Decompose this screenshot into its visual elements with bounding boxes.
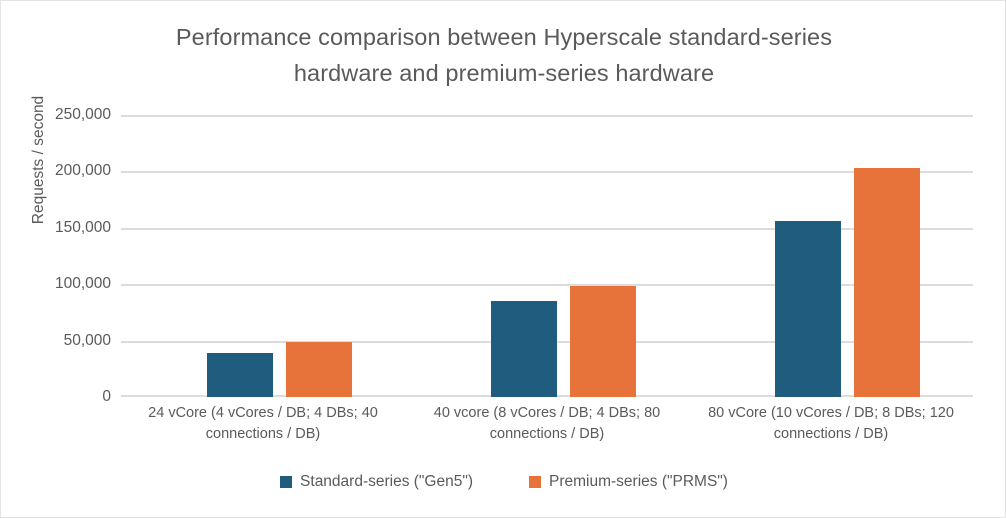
bar-standard-category-2[interactable] [491,301,557,397]
bar-standard-category-3[interactable] [775,221,841,397]
y-tick-label-1: 50,000 [15,332,111,350]
chart-title-line-2: hardware and premium-series hardware [121,55,887,91]
bar-group-category-2 [405,115,689,397]
legend-swatch-premium-series [529,476,541,488]
y-tick-label-4: 200,000 [15,162,111,180]
y-tick-label-3: 150,000 [15,219,111,237]
chart-legend: Standard-series ("Gen5") Premium-series … [1,473,1006,491]
chart-title: Performance comparison between Hyperscal… [121,19,887,91]
x-category-label-3: 80 vCore (10 vCores / DB; 8 DBs; 120 con… [689,403,973,445]
bar-premium-category-1[interactable] [286,342,352,397]
x-category-label-2-line-2: connections / DB) [405,424,689,445]
x-category-label-2: 40 vcore (8 vCores / DB; 4 DBs; 80 conne… [405,403,689,445]
legend-item-standard-series[interactable]: Standard-series ("Gen5") [280,473,473,491]
bar-standard-category-1[interactable] [207,353,273,397]
chart-title-line-1: Performance comparison between Hyperscal… [121,19,887,55]
y-tick-label-0: 0 [15,388,111,406]
y-axis-tick-labels: 0 50,000 100,000 150,000 200,000 250,000 [11,115,111,397]
legend-label-standard-series: Standard-series ("Gen5") [300,473,473,491]
x-category-label-3-line-2: connections / DB) [689,424,973,445]
x-category-label-1: 24 vCore (4 vCores / DB; 4 DBs; 40 conne… [121,403,405,445]
x-category-label-3-line-1: 80 vCore (10 vCores / DB; 8 DBs; 120 [689,403,973,424]
x-axis-category-labels: 24 vCore (4 vCores / DB; 4 DBs; 40 conne… [121,403,973,449]
chart-card: Performance comparison between Hyperscal… [0,0,1006,518]
x-category-label-1-line-2: connections / DB) [121,424,405,445]
legend-swatch-standard-series [280,476,292,488]
x-category-label-1-line-1: 24 vCore (4 vCores / DB; 4 DBs; 40 [121,403,405,424]
legend-item-premium-series[interactable]: Premium-series ("PRMS") [529,473,728,491]
y-tick-label-2: 100,000 [15,275,111,293]
y-tick-label-5: 250,000 [15,106,111,124]
bar-premium-category-3[interactable] [854,168,920,397]
plot-area [121,115,973,397]
bar-group-category-1 [121,115,405,397]
bar-group-category-3 [689,115,973,397]
bar-premium-category-2[interactable] [570,286,636,397]
legend-label-premium-series: Premium-series ("PRMS") [549,473,728,491]
x-category-label-2-line-1: 40 vcore (8 vCores / DB; 4 DBs; 80 [405,403,689,424]
